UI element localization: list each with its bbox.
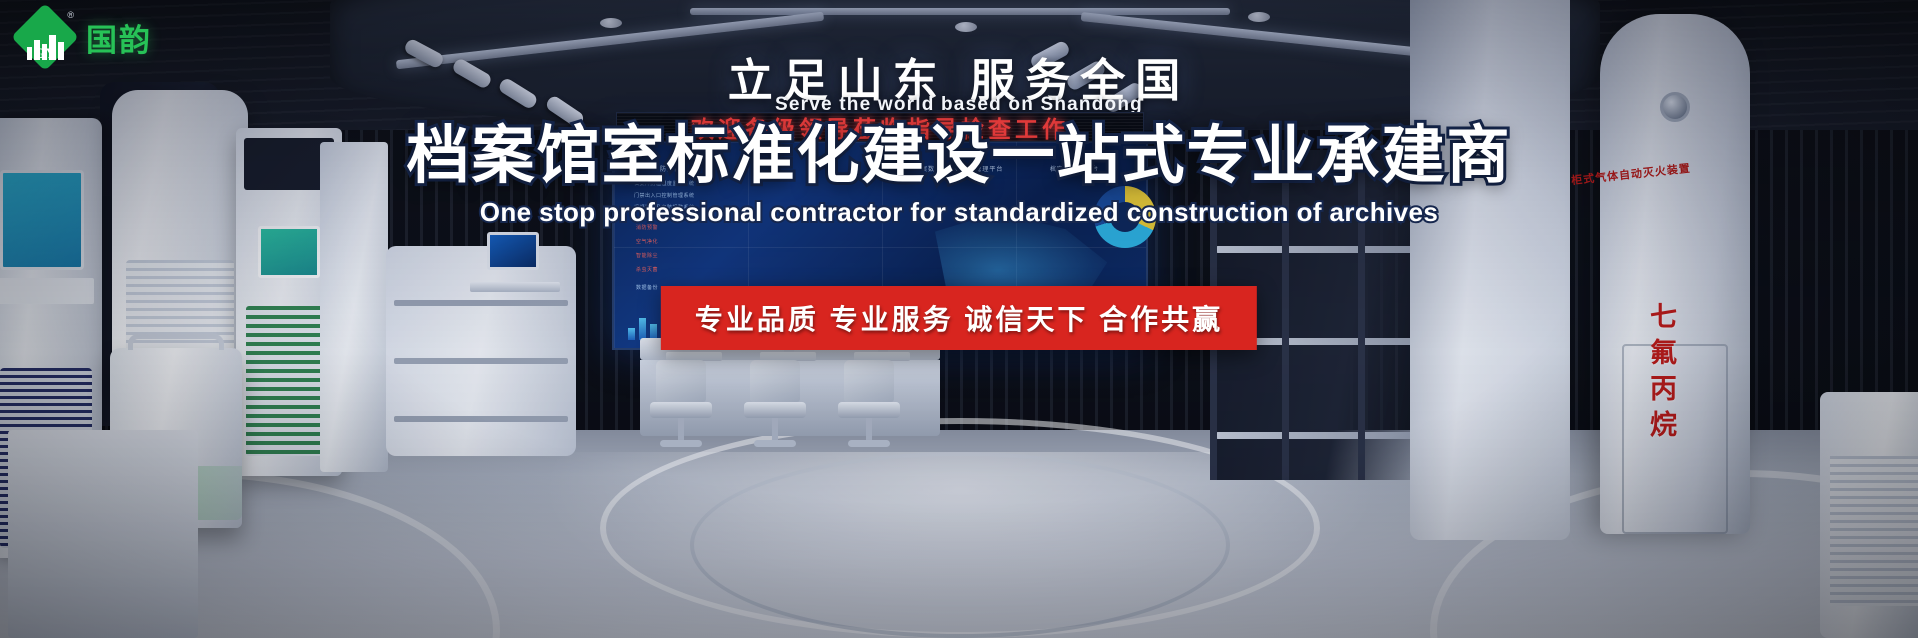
hero-banner: 国韵电子 档案安全防护体系 档案库房温湿度监控系统 门禁出入口控制管理系 [0, 0, 1918, 638]
slogan-text: 专业品质 专业服务 诚信天下 合作共赢 [695, 304, 1223, 335]
gy-building-diamond-logo-icon: GY ® [14, 6, 76, 68]
brand-name: 国韵 [86, 15, 152, 60]
page-title: 档案馆室标准化建设一站式专业承建商 [0, 122, 1918, 190]
registered-trademark-icon: ® [67, 10, 74, 20]
brand-logo[interactable]: GY ® 国韵 [14, 6, 152, 68]
hero-text-overlay: 立足山东 服务全国 Serve the world based on Shand… [0, 0, 1918, 638]
page-subtitle: One stop professional contractor for sta… [0, 197, 1918, 228]
slogan-badge: 专业品质 专业服务 诚信天下 合作共赢 [661, 286, 1257, 350]
logo-initials: GY [14, 46, 76, 63]
